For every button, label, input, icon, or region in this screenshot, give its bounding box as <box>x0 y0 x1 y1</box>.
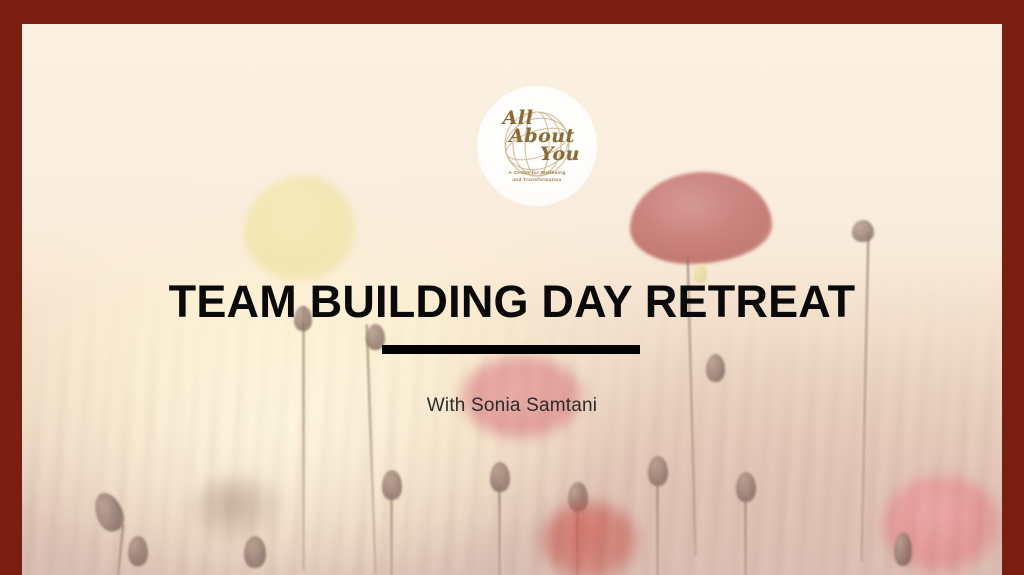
page-title: TEAM BUILDING DAY RETREAT <box>22 276 1002 328</box>
logo-tagline: A Centre for Wellbeing and Transformatio… <box>509 170 566 183</box>
all-about-you-logo: All About You A Centre for Wellbeing and… <box>477 86 597 206</box>
logo-tagline-line-2: and Transformation <box>509 177 566 184</box>
poppy-seed-pod <box>852 220 874 242</box>
presenter-subtitle: With Sonia Samtani <box>22 395 1002 417</box>
title-divider-rule <box>382 345 640 354</box>
poster-frame: All About You A Centre for Wellbeing and… <box>0 0 1024 575</box>
logo-tagline-line-1: A Centre for Wellbeing <box>509 170 566 177</box>
slide-canvas: All About You A Centre for Wellbeing and… <box>22 24 1002 575</box>
logo-script-line-3: You <box>477 145 597 163</box>
